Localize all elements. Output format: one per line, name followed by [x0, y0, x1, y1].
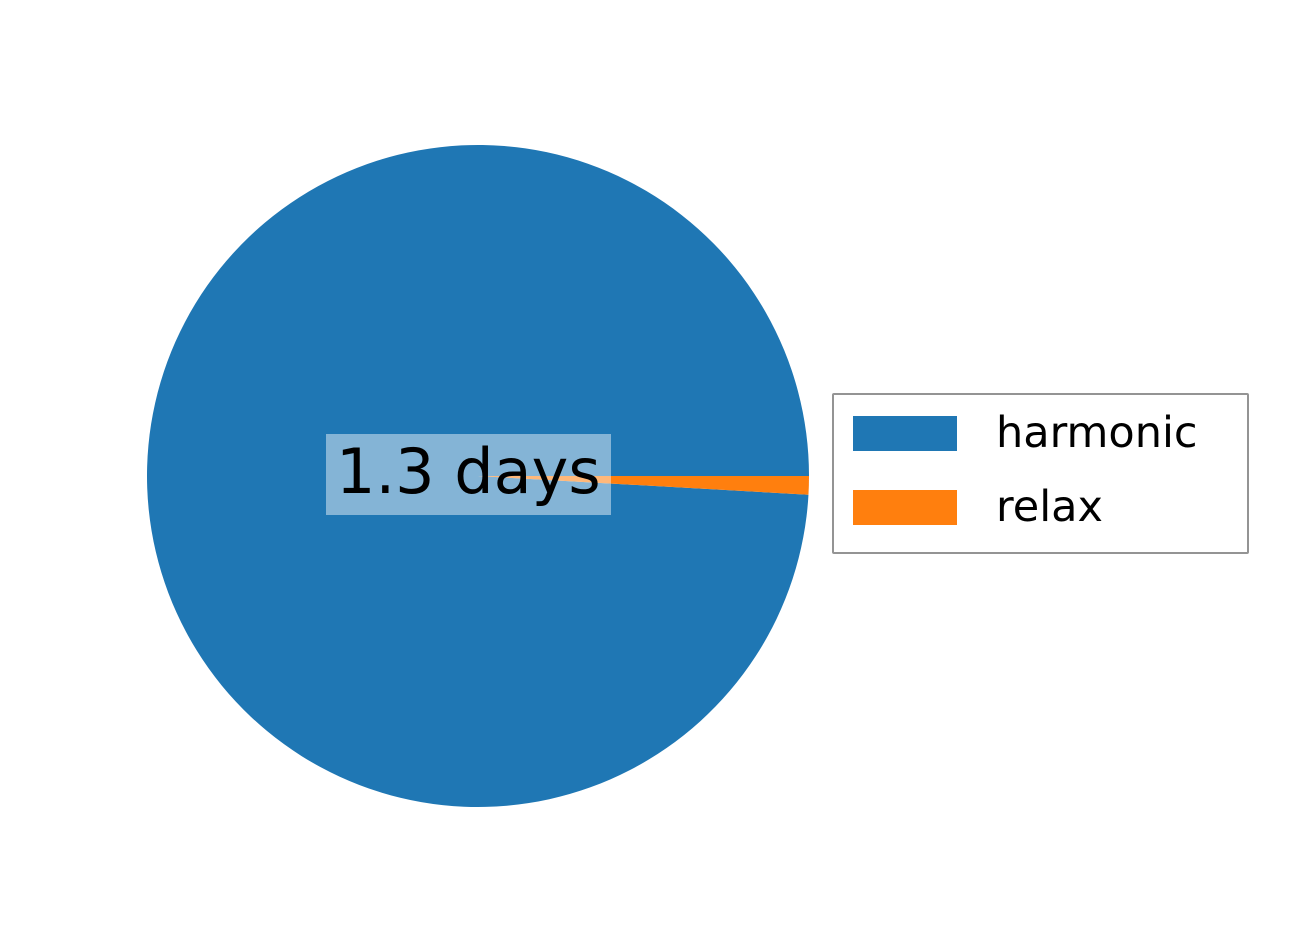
- pie-slice-label-harmonic: 1.3 days: [326, 434, 611, 515]
- color-swatch-icon-harmonic: [853, 416, 957, 451]
- legend-label-harmonic: harmonic: [996, 412, 1198, 455]
- legend-entry-harmonic[interactable]: harmonic: [853, 413, 1198, 453]
- chart-legend: harmonic relax: [832, 393, 1249, 554]
- pie-chart-figure: 1.3 days harmonic relax: [0, 0, 1307, 951]
- legend-entry-relax[interactable]: relax: [853, 487, 1103, 527]
- color-swatch-icon-relax: [853, 490, 957, 525]
- legend-label-relax: relax: [996, 486, 1103, 529]
